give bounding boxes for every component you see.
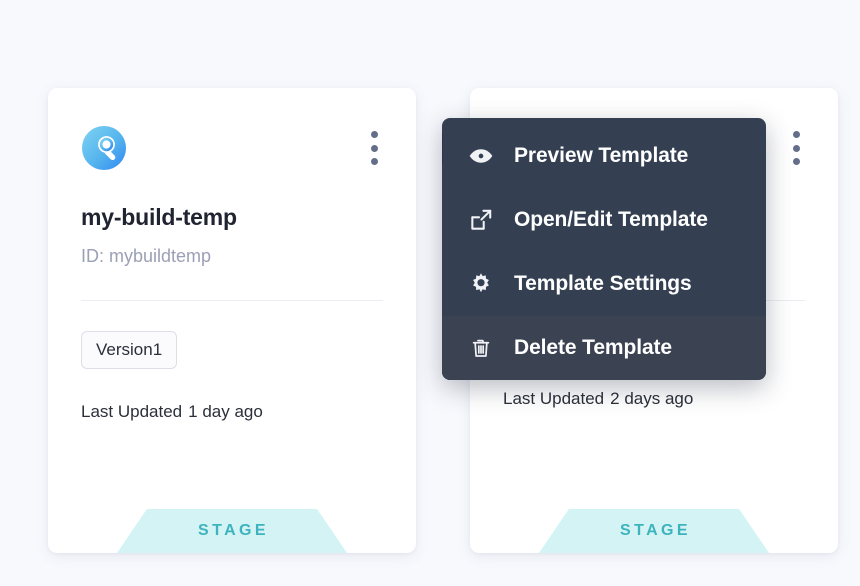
menu-item-open-edit-template[interactable]: Open/Edit Template — [442, 188, 766, 252]
kebab-dot — [793, 158, 800, 165]
kebab-dot — [371, 145, 378, 152]
gear-icon — [468, 271, 498, 297]
search-circle-logo-icon — [81, 125, 127, 171]
template-cards-screen: my-build-temp ID: mybuildtemp Version1 L… — [0, 0, 860, 586]
kebab-dot — [371, 131, 378, 138]
template-card-header — [81, 88, 383, 184]
menu-item-label: Open/Edit Template — [514, 208, 708, 232]
kebab-dot — [371, 158, 378, 165]
template-card[interactable]: my-build-temp ID: mybuildtemp Version1 L… — [48, 88, 416, 553]
menu-item-preview-template[interactable]: Preview Template — [442, 124, 766, 188]
menu-item-delete-template[interactable]: Delete Template — [442, 316, 766, 380]
menu-item-label: Delete Template — [514, 336, 672, 360]
trash-icon — [468, 335, 498, 361]
last-updated-row: Last Updated1 day ago — [81, 402, 383, 422]
menu-item-label: Preview Template — [514, 144, 688, 168]
version-chip[interactable]: Version1 — [81, 331, 177, 370]
last-updated-row: Last Updated2 days ago — [503, 389, 805, 409]
template-card-body: my-build-temp ID: mybuildtemp Version1 L… — [48, 88, 416, 553]
last-updated-label: Last Updated — [503, 389, 604, 408]
kebab-dot — [793, 145, 800, 152]
last-updated-value: 1 day ago — [188, 402, 263, 421]
external-link-icon — [468, 207, 498, 233]
last-updated-label: Last Updated — [81, 402, 182, 421]
more-vertical-icon[interactable] — [783, 130, 809, 166]
template-card-id: ID: mybuildtemp — [81, 232, 383, 267]
menu-item-label: Template Settings — [514, 272, 692, 296]
last-updated-value: 2 days ago — [610, 389, 693, 408]
kebab-dot — [793, 131, 800, 138]
template-card-title: my-build-temp — [81, 184, 383, 232]
stage-badge: STAGE — [117, 509, 347, 553]
stage-badge-label: STAGE — [117, 509, 347, 553]
stage-badge-label: STAGE — [539, 509, 769, 553]
more-vertical-icon[interactable] — [361, 130, 387, 166]
eye-icon — [468, 143, 498, 169]
menu-item-template-settings[interactable]: Template Settings — [442, 252, 766, 316]
stage-badge: STAGE — [539, 509, 769, 553]
menu-caret-icon — [442, 133, 443, 165]
template-context-menu: Preview Template Open/Edit Template — [442, 118, 766, 380]
